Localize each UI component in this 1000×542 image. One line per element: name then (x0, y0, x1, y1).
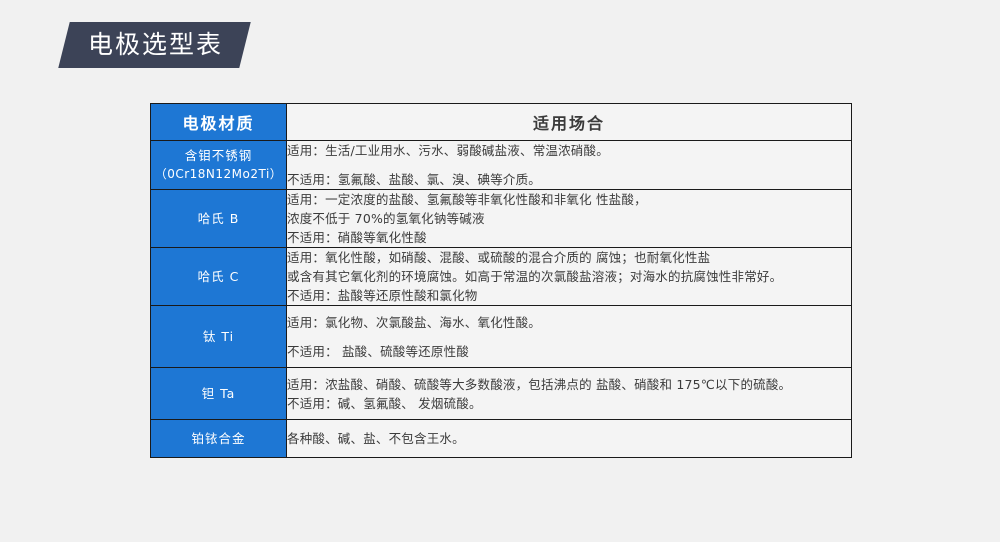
material-code: （0Cr18N12Mo2Ti） (151, 165, 286, 184)
usage-cell-platinum-iridium: 各种酸、碱、盐、不包含王水。 (287, 420, 852, 458)
table-row: 钽 Ta 适用：浓盐酸、硝酸、硫酸等大多数酸液，包括沸点的 盐酸、硝酸和 175… (151, 368, 852, 420)
column-header-usage: 适用场合 (287, 104, 852, 141)
usage-line-suitable-cont: 浓度不低于 70%的氢氧化钠等碱液 (287, 209, 851, 228)
table-row: 钛 Ti 适用：氯化物、次氯酸盐、海水、氧化性酸。 不适用： 盐酸、硫酸等还原性… (151, 306, 852, 368)
usage-cell-hastelloy-b: 适用：一定浓度的盐酸、氢氟酸等非氧化性酸和非氧化 性盐酸， 浓度不低于 70%的… (287, 190, 852, 248)
usage-line-suitable-cont: 或含有其它氧化剂的环境腐蚀。如高于常温的次氯酸盐溶液；对海水的抗腐蚀性非常好。 (287, 267, 851, 286)
electrode-selection-table-wrap: 电极材质 适用场合 含钼不锈钢 （0Cr18N12Mo2Ti） 适用：生活/工业… (150, 103, 851, 458)
material-cell-stainless-steel: 含钼不锈钢 （0Cr18N12Mo2Ti） (151, 141, 287, 190)
usage-line-suitable: 适用：氯化物、次氯酸盐、海水、氧化性酸。 (287, 313, 851, 332)
usage-line-suitable: 适用：生活/工业用水、污水、弱酸碱盐液、常温浓硝酸。 (287, 141, 851, 160)
usage-cell-titanium: 适用：氯化物、次氯酸盐、海水、氧化性酸。 不适用： 盐酸、硫酸等还原性酸 (287, 306, 852, 368)
table-row: 哈氏 C 适用：氧化性酸，如硝酸、混酸、或硫酸的混合介质的 腐蚀；也耐氧化性盐 … (151, 248, 852, 306)
column-header-material: 电极材质 (151, 104, 287, 141)
material-cell-hastelloy-c: 哈氏 C (151, 248, 287, 306)
table-row: 含钼不锈钢 （0Cr18N12Mo2Ti） 适用：生活/工业用水、污水、弱酸碱盐… (151, 141, 852, 190)
usage-cell-hastelloy-c: 适用：氧化性酸，如硝酸、混酸、或硫酸的混合介质的 腐蚀；也耐氧化性盐 或含有其它… (287, 248, 852, 306)
usage-cell-stainless-steel: 适用：生活/工业用水、污水、弱酸碱盐液、常温浓硝酸。 不适用：氢氟酸、盐酸、氯、… (287, 141, 852, 190)
electrode-selection-table: 电极材质 适用场合 含钼不锈钢 （0Cr18N12Mo2Ti） 适用：生活/工业… (150, 103, 852, 458)
table-header-row: 电极材质 适用场合 (151, 104, 852, 141)
page-title-banner: 电极选型表 (64, 22, 245, 68)
material-name: 哈氏 C (198, 269, 240, 284)
material-name: 哈氏 B (198, 211, 240, 226)
table-row: 铂铱合金 各种酸、碱、盐、不包含王水。 (151, 420, 852, 458)
material-cell-hastelloy-b: 哈氏 B (151, 190, 287, 248)
usage-line-unsuitable: 不适用：盐酸等还原性酸和氯化物 (287, 286, 851, 305)
usage-line-unsuitable: 不适用：碱、氢氟酸、 发烟硫酸。 (287, 394, 851, 413)
usage-cell-tantalum: 适用：浓盐酸、硝酸、硫酸等大多数酸液，包括沸点的 盐酸、硝酸和 175℃以下的硫… (287, 368, 852, 420)
material-cell-titanium: 钛 Ti (151, 306, 287, 368)
material-name: 铂铱合金 (191, 431, 245, 446)
usage-line-unsuitable: 不适用：硝酸等氧化性酸 (287, 228, 851, 247)
material-name: 钛 Ti (203, 329, 234, 344)
usage-line-unsuitable: 不适用： 盐酸、硫酸等还原性酸 (287, 342, 851, 361)
banner-shape: 电极选型表 (58, 22, 250, 68)
usage-line-suitable: 适用：一定浓度的盐酸、氢氟酸等非氧化性酸和非氧化 性盐酸， (287, 190, 851, 209)
usage-line-suitable: 适用：氧化性酸，如硝酸、混酸、或硫酸的混合介质的 腐蚀；也耐氧化性盐 (287, 248, 851, 267)
page-title: 电极选型表 (88, 22, 223, 68)
usage-line-unsuitable: 不适用：氢氟酸、盐酸、氯、溴、碘等介质。 (287, 170, 851, 189)
material-name: 含钼不锈钢 (185, 148, 253, 163)
table-row: 哈氏 B 适用：一定浓度的盐酸、氢氟酸等非氧化性酸和非氧化 性盐酸， 浓度不低于… (151, 190, 852, 248)
material-name: 钽 Ta (202, 386, 236, 401)
usage-line-suitable: 适用：浓盐酸、硝酸、硫酸等大多数酸液，包括沸点的 盐酸、硝酸和 175℃以下的硫… (287, 375, 851, 394)
usage-line-suitable: 各种酸、碱、盐、不包含王水。 (287, 429, 851, 448)
material-cell-tantalum: 钽 Ta (151, 368, 287, 420)
material-cell-platinum-iridium: 铂铱合金 (151, 420, 287, 458)
